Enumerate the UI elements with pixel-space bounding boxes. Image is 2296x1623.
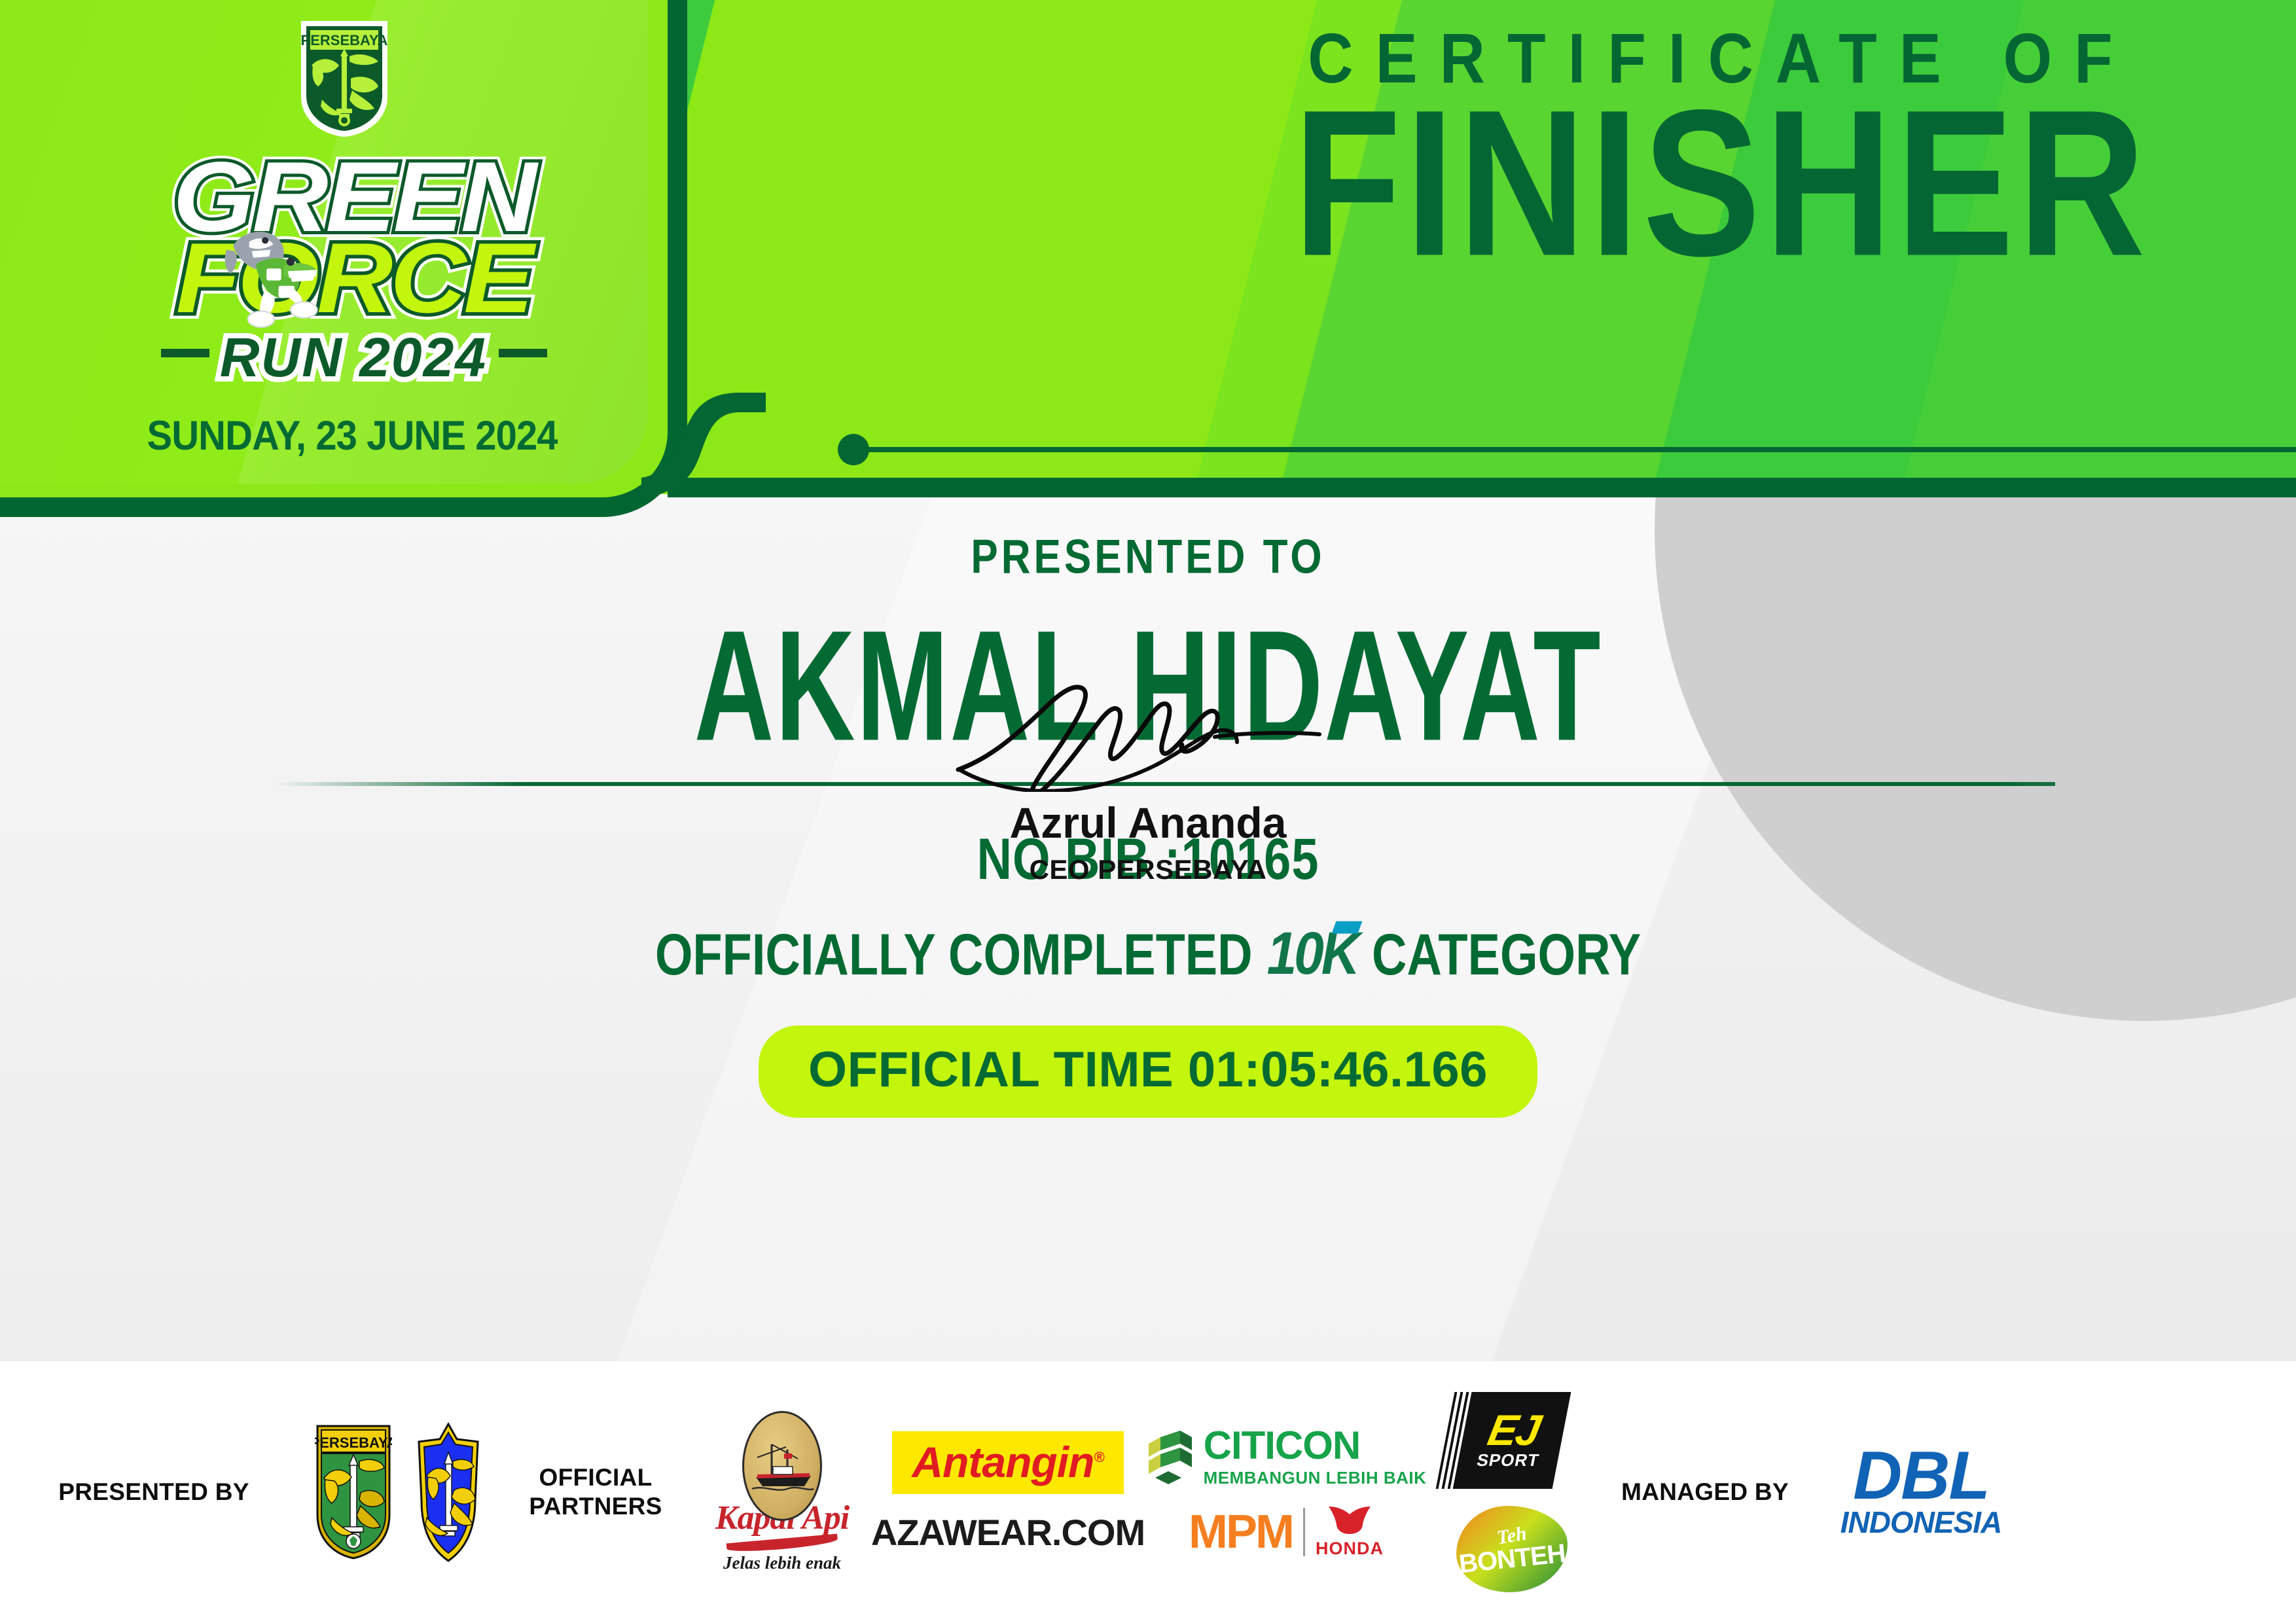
ej-sport-tagline: SPORT [1475, 1450, 1541, 1471]
official-time-text: OFFICIAL TIME 01:05:46.166 [808, 1042, 1488, 1097]
sponsor-mpm-honda: MPM HONDA [1189, 1505, 1384, 1559]
header-curve-connector [641, 393, 766, 497]
official-time-value: 01:05:46.166 [1188, 1042, 1488, 1097]
antangin-wordmark: Antangin® [912, 1440, 1103, 1484]
persebaya-crest-label: PERSEBAYA [301, 32, 388, 48]
honda-wing-icon [1319, 1505, 1380, 1535]
official-partners-label: OFFICIAL PARTNERS [497, 1463, 694, 1520]
honda-wordmark: HONDA [1316, 1539, 1384, 1559]
citicon-wordmark: CITICON [1204, 1426, 1427, 1465]
certificate-title-block: CERTIFICATE OF FINISHER [1165, 26, 2278, 268]
kapal-api-tagline: Jelas lebih enak [700, 1553, 864, 1573]
sponsor-teh-bonteh: Teh BONTEH [1456, 1506, 1568, 1592]
mpm-divider [1303, 1508, 1305, 1556]
signer-role: CEO PERSEBAYA [0, 854, 2296, 885]
event-date: SUNDAY, 23 JUNE 2024 [123, 412, 581, 459]
presented-to-label: PRESENTED TO [0, 530, 2296, 585]
accent-rule [864, 447, 2296, 452]
certificate-body: PRESENTED TO AKMAL HIDAYAT NO BIB :10165… [0, 497, 2296, 1361]
sponsor-antangin-azawear: Antangin® AZAWEAR.COM [870, 1431, 1145, 1554]
ej-stripes-icon [1436, 1392, 1472, 1489]
presented-by-label-slot: PRESENTED BY [0, 1478, 308, 1507]
signature-block: Azrul Ananda CEO PERSEBAYA [0, 674, 2296, 885]
sponsor-ej-sport: EJ SPORT [1453, 1392, 1571, 1489]
sponsor-antangin: Antangin® [892, 1431, 1123, 1494]
dbl-wordmark: DBL [1840, 1447, 2002, 1505]
sponsor-ej-bonteh: EJ SPORT Teh BONTEH [1427, 1392, 1597, 1592]
citicon-tagline: MEMBANGUN LEBIH BAIK [1204, 1468, 1427, 1488]
official-partners-label-slot: OFFICIAL PARTNERS [497, 1463, 694, 1520]
ej-wordmark: EJ [1485, 1410, 1543, 1450]
sponsor-kapal-api: Kapal Api Jelas lebih enak [694, 1411, 870, 1573]
category-10k-logo: 10K [1267, 919, 1357, 988]
category-accent-slash-icon [1332, 921, 1363, 934]
footer-persebaya-label: PERSEBAYA [315, 1435, 392, 1451]
green-force-run-logo: GREEN GREEN GREEN FORCE FORCE FORCE [98, 141, 609, 396]
header-accent-line [838, 434, 2296, 467]
footer-persebaya-crest: PERSEBAYA [308, 1423, 399, 1561]
sponsor-citicon-mpm: CITICON MEMBANGUN LEBIH BAIK MPM HONDA [1145, 1426, 1427, 1559]
certificate-page: PERSEBAYA GREEN GREEN GREEN FORCE [0, 0, 2296, 1623]
mpm-wordmark: MPM [1189, 1508, 1293, 1556]
official-time-badge: OFFICIAL TIME 01:05:46.166 [759, 1026, 1537, 1118]
persebaya-crest-icon: PERSEBAYA [296, 18, 393, 139]
official-time-label: OFFICIAL TIME [808, 1042, 1174, 1097]
completed-suffix: CATEGORY [1372, 921, 1641, 988]
dbl-indonesia-subtext: INDONESIA [1840, 1507, 2002, 1537]
managed-by-label: MANAGED BY [1621, 1478, 1789, 1507]
completed-prefix: OFFICIALLY COMPLETED [655, 921, 1253, 988]
header-bottom-rule [668, 478, 2296, 497]
category-line: OFFICIALLY COMPLETED 10K CATEGORY [0, 923, 2296, 985]
antangin-registered-icon: ® [1094, 1449, 1103, 1465]
footer-surabaya-emblem [399, 1422, 497, 1563]
logo-subtitle-run-2024: RUN 2024 [220, 327, 487, 388]
certificate-title-big: FINISHER [1165, 85, 2278, 283]
logo-word-force: FORCE [176, 223, 537, 334]
handwritten-signature-icon [919, 674, 1377, 792]
sponsor-footer: PRESENTED BY PERSEBAYA [0, 1361, 2296, 1623]
manager-dbl-indonesia: DBL INDONESIA [1813, 1447, 2029, 1537]
sponsor-citicon: CITICON MEMBANGUN LEBIH BAIK [1146, 1426, 1427, 1488]
signer-name: Azrul Ananda [0, 798, 2296, 847]
persebaya-crest-color-icon: PERSEBAYA [315, 1423, 392, 1561]
citicon-blocks-icon [1146, 1429, 1194, 1484]
managed-by-label-slot: MANAGED BY [1597, 1478, 1813, 1507]
presented-by-label: PRESENTED BY [58, 1478, 249, 1507]
sponsor-azawear: AZAWEAR.COM [871, 1511, 1145, 1554]
bonteh-wordmark: BONTEH [1458, 1539, 1567, 1579]
kapal-api-ship-icon [742, 1411, 822, 1521]
surabaya-city-emblem-icon [410, 1422, 487, 1563]
